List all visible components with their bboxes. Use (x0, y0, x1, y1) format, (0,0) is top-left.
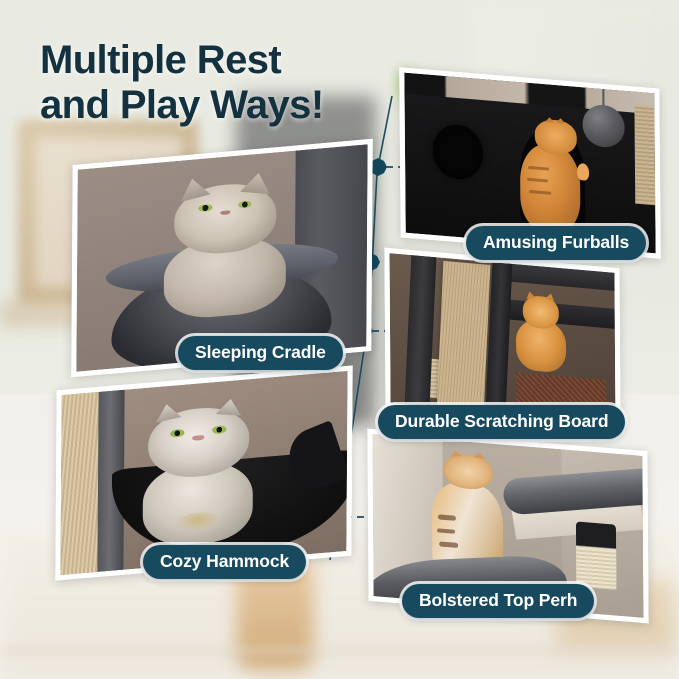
label-durable-scratching-board: Durable Scratching Board (378, 405, 625, 439)
hammock-cat-ear-left (153, 402, 181, 424)
hammock-cat-eye-right (213, 425, 227, 434)
label-amusing-furballs: Amusing Furballs (466, 226, 646, 260)
furball-cat-paw (576, 162, 588, 181)
furball-cat-stripe (529, 190, 551, 195)
label-sleeping-cradle: Sleeping Cradle (178, 336, 343, 370)
perch-cat-stripe (438, 514, 456, 520)
hammock-cat-ear-right (216, 399, 244, 417)
furball-cat-stripe (528, 165, 550, 170)
hammock-cat (141, 404, 256, 543)
cradle-cat-ear-right (240, 171, 274, 194)
furball-cat-body (519, 142, 580, 234)
perch-cat-stripe (440, 541, 458, 547)
furball-cat-ear-right (556, 118, 565, 124)
scratch-upper-shelf (509, 264, 615, 291)
furball-cat-ear-left (545, 117, 554, 123)
scratch-cat-ear-right (546, 292, 556, 301)
cradle-cat-eye-right (239, 200, 252, 209)
cradle-cat-nose (220, 210, 230, 215)
label-bolstered-top-perh: Bolstered Top Perh (402, 584, 594, 618)
hammock-cat-eye-left (170, 429, 184, 438)
background-floor-line (0, 648, 679, 653)
scratch-cat (516, 294, 566, 370)
label-cozy-hammock: Cozy Hammock (143, 545, 306, 579)
page-title: Multiple Rest and Play Ways! (40, 38, 324, 128)
hammock-scratch-panel (60, 392, 101, 575)
furball-entry-hole (432, 123, 482, 182)
scratching-board (436, 261, 490, 415)
feature-photo-durable-scratching-board[interactable] (384, 248, 620, 429)
hammock-cat-bib (176, 511, 220, 532)
cradle-cat-ear-left (177, 175, 211, 203)
photo-durable-scratching-board (389, 253, 615, 423)
cradle-cat-eye-left (199, 204, 212, 213)
furball-sisal-post (634, 104, 655, 205)
scratch-cat-ear-left (525, 291, 536, 299)
furball-cat (515, 117, 591, 235)
hammock-cat-nose (192, 435, 204, 441)
furball-cat-stripe (527, 177, 549, 182)
perch-cat-stripe (437, 528, 455, 534)
perch-post-sisal (576, 548, 617, 590)
cradle-cat (164, 180, 287, 316)
